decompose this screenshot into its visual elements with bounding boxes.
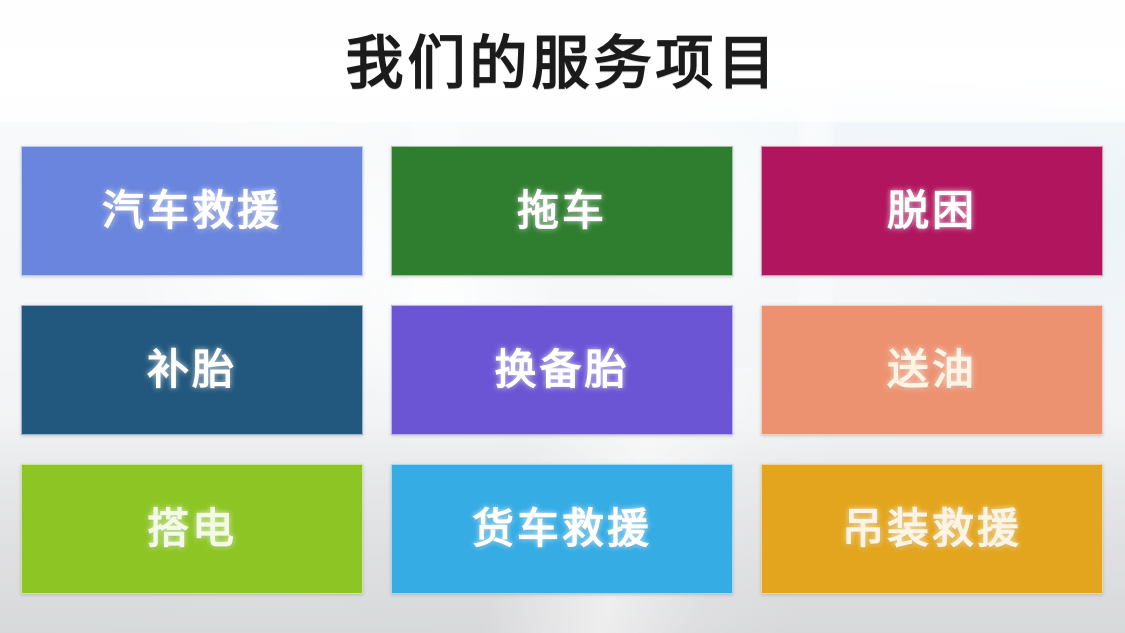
service-tile-tow-truck[interactable]: 拖车	[391, 146, 733, 276]
page-title-bar: 我们的服务项目	[0, 0, 1125, 122]
service-tile-label: 汽车救援	[102, 190, 282, 232]
service-tile-label: 货车救援	[472, 508, 652, 550]
service-tile-extrication[interactable]: 脱困	[761, 146, 1103, 276]
service-tile-label: 送油	[887, 349, 977, 391]
service-tile-truck-rescue[interactable]: 货车救援	[391, 464, 733, 594]
page-title: 我们的服务项目	[345, 29, 779, 93]
service-tile-label: 脱困	[887, 190, 977, 232]
service-tile-label: 吊装救援	[842, 508, 1022, 550]
service-grid: 汽车救援 拖车 脱困 补胎 换备胎 送油 搭电 货车救援 吊装救援	[21, 146, 1104, 593]
service-tile-fuel-delivery[interactable]: 送油	[761, 305, 1103, 435]
service-tile-jump-start[interactable]: 搭电	[21, 464, 363, 594]
service-poster: 我们的服务项目 汽车救援 拖车 脱困 补胎 换备胎 送油 搭电 货车救援 吊装救…	[0, 0, 1125, 633]
service-tile-label: 换备胎	[494, 349, 629, 391]
service-tile-tire-repair[interactable]: 补胎	[21, 305, 363, 435]
service-tile-label: 补胎	[147, 349, 237, 391]
service-tile-label: 拖车	[517, 190, 607, 232]
service-tile-crane-rescue[interactable]: 吊装救援	[761, 464, 1103, 594]
service-tile-spare-tire[interactable]: 换备胎	[391, 305, 733, 435]
service-tile-car-rescue[interactable]: 汽车救援	[21, 146, 363, 276]
service-tile-label: 搭电	[147, 508, 237, 550]
